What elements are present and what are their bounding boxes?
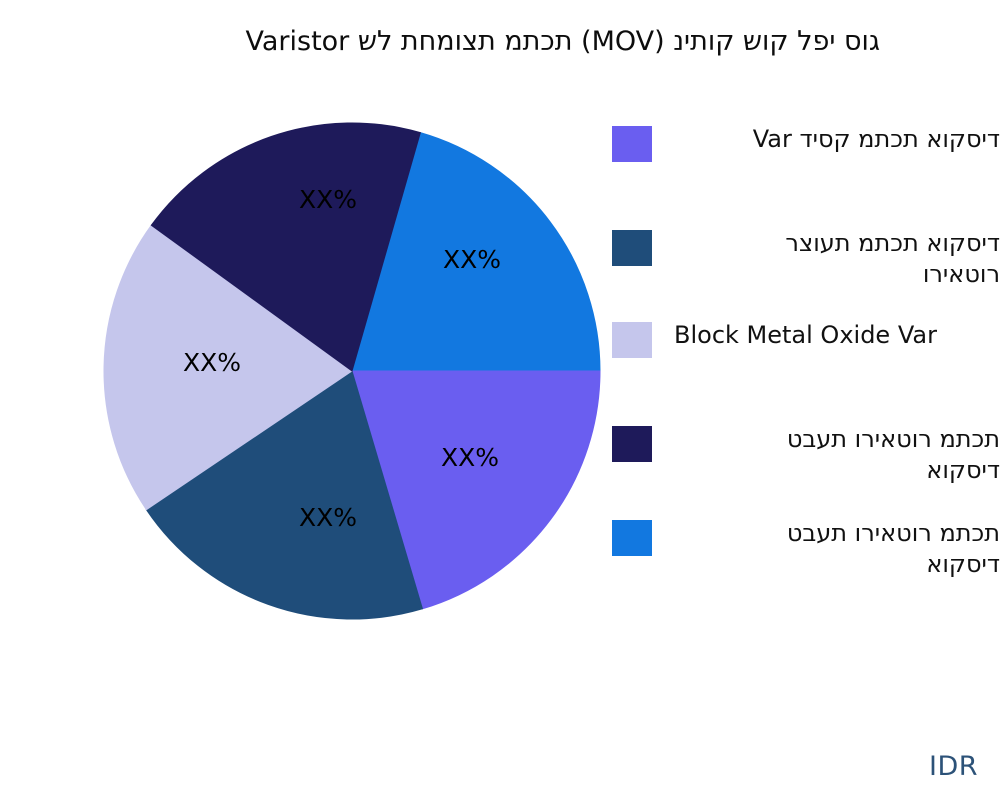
legend-item[interactable]: דיסקוא תכתמ תעוצר רוטאירו [612,228,1000,289]
chart-legend: דיסקוא תכתמ קסיד Varדיסקוא תכתמ תעוצר רו… [612,118,1000,618]
pie-slice-label: XX% [443,245,501,274]
legend-color-swatch [612,126,652,162]
pie-slice-label: XX% [299,503,357,532]
legend-item-label: דיסקוא תכתמ קסיד Var [674,124,1000,155]
legend-color-swatch [612,520,652,556]
watermark-label: IDR [929,751,978,782]
pie-slice-label: XX% [441,443,499,472]
legend-color-swatch [612,322,652,358]
legend-color-swatch [612,426,652,462]
pie-svg: XX%XX%XX%XX%XX% [104,123,600,619]
legend-item[interactable]: Block Metal Oxide Var [612,320,1000,358]
legend-item-label: דיסקוא תכתמ תעוצר רוטאירו [674,228,1000,289]
legend-item-label: תכתמ רוטאירו תעבט דיסקוא [674,424,1000,485]
legend-item-label: תכתמ רוטאירו תעבט דיסקוא [674,518,1000,579]
pie-chart-figure: גוס יפל קוש קותינ (MOV) תכתמ תצומחת לש V… [0,0,1000,800]
pie-slice-label: XX% [299,185,357,214]
legend-item[interactable]: דיסקוא תכתמ קסיד Var [612,124,1000,162]
legend-color-swatch [612,230,652,266]
pie-slice-label: XX% [183,348,241,377]
chart-title: גוס יפל קוש קותינ (MOV) תכתמ תצומחת לש V… [0,26,880,58]
legend-item[interactable]: תכתמ רוטאירו תעבט דיסקוא [612,424,1000,485]
legend-item-label: Block Metal Oxide Var [674,320,1000,351]
pie-plot-area: XX%XX%XX%XX%XX% [104,123,600,619]
legend-item[interactable]: תכתמ רוטאירו תעבט דיסקוא [612,518,1000,579]
